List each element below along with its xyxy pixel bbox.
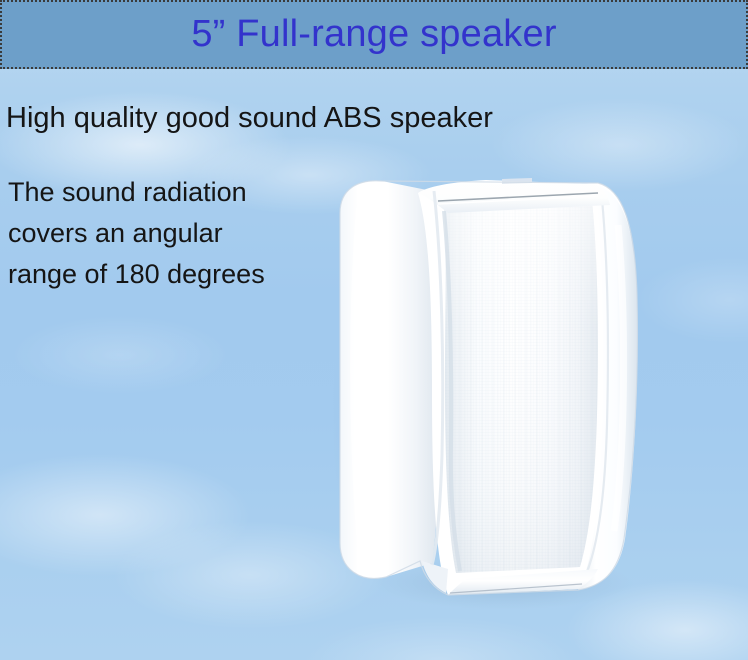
header-banner: 5” Full-range speaker <box>0 0 748 69</box>
product-banner-page: 5” Full-range speaker High quality good … <box>0 0 748 660</box>
subtitle-text: High quality good sound ABS speaker <box>6 101 493 135</box>
speaker-top-tab <box>502 178 532 184</box>
description-block: The sound radiation covers an angular ra… <box>8 172 265 295</box>
description-line-2: covers an angular <box>8 213 265 254</box>
description-line-1: The sound radiation <box>8 172 265 213</box>
description-line-3: range of 180 degrees <box>8 254 265 295</box>
speaker-product-image <box>326 165 646 605</box>
page-title: 5” Full-range speaker <box>191 15 556 53</box>
